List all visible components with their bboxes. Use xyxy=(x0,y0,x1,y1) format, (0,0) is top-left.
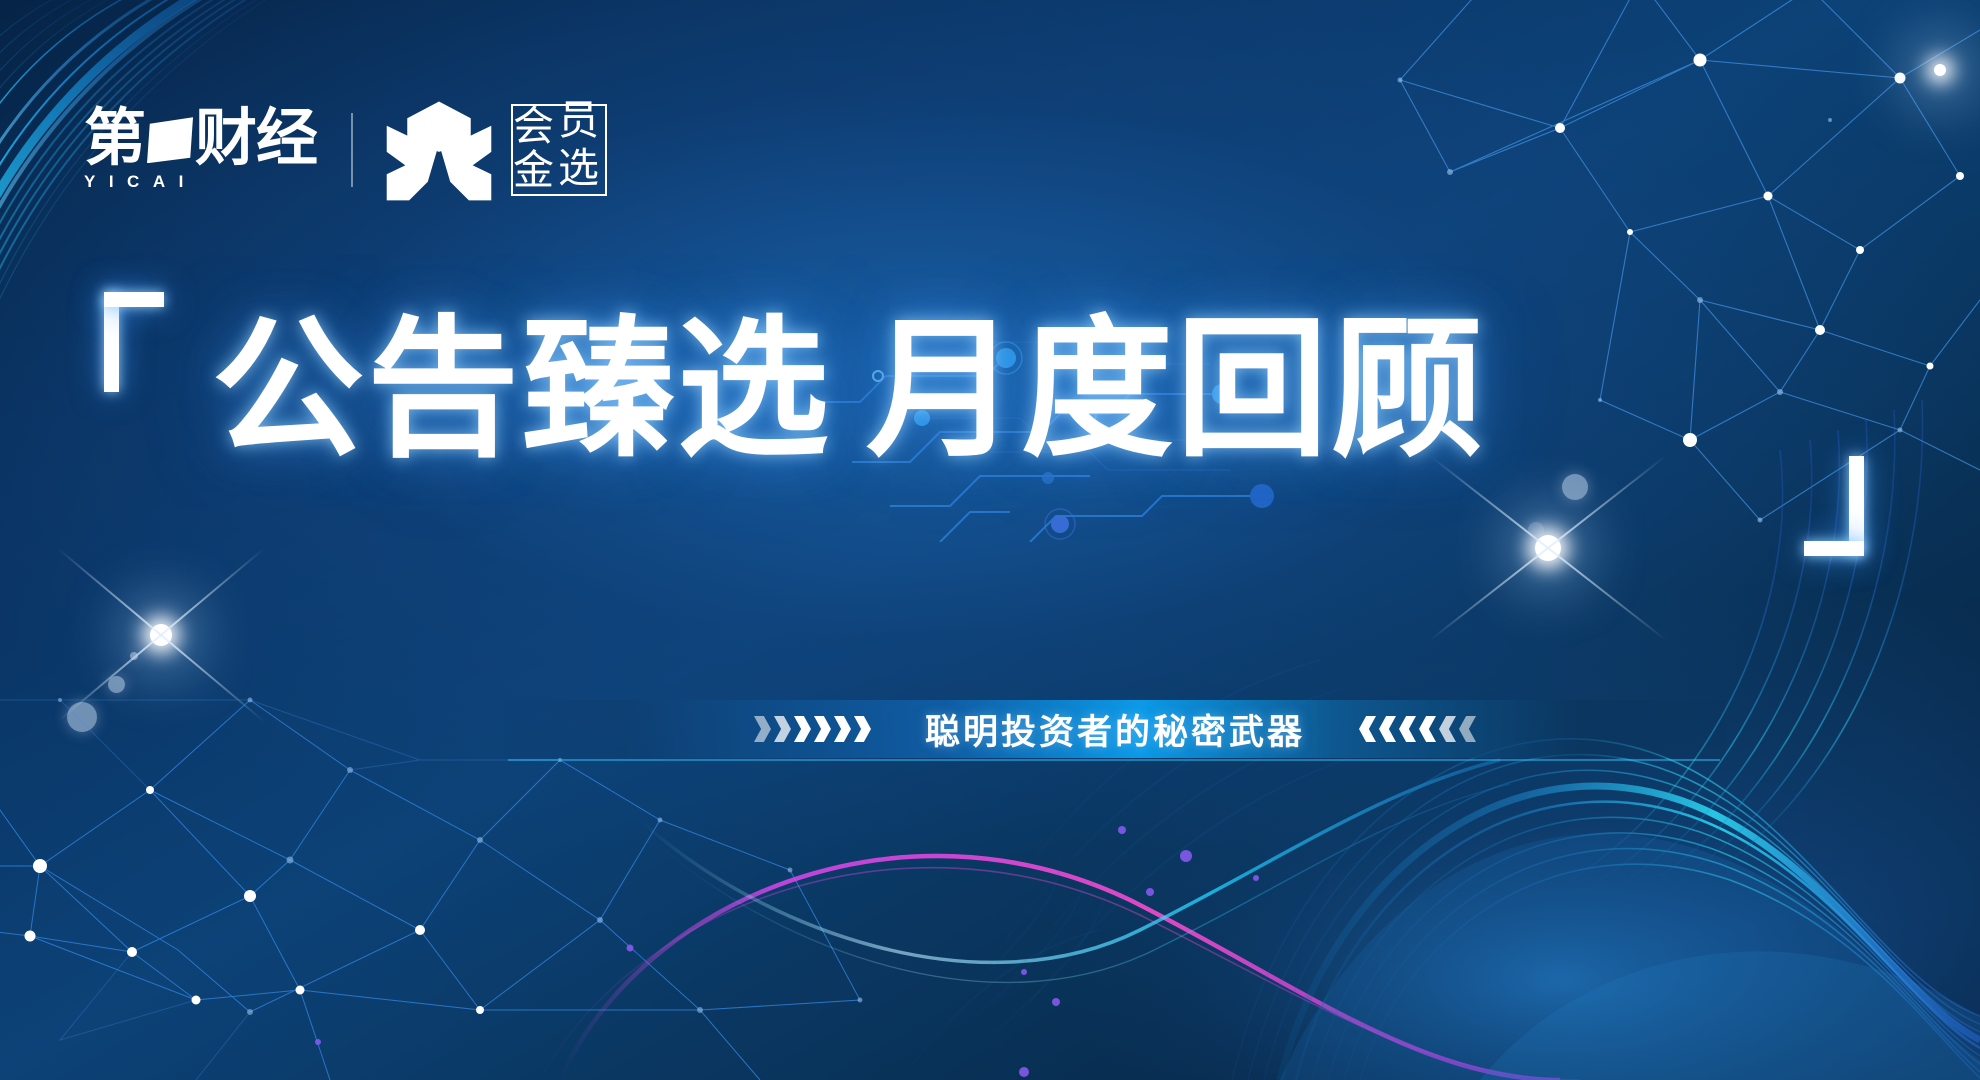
title-block: 公告臻选月度回顾 xyxy=(0,292,1980,542)
vip-glyph-yuan: 员 xyxy=(558,100,599,141)
lens-flare-top-far-right xyxy=(1880,10,1980,130)
vip-gold-selection-logo[interactable]: 会 员 金 选 xyxy=(511,104,607,196)
bracket-close xyxy=(1804,456,1864,556)
yicai-logo-latin: YICAI xyxy=(84,172,197,192)
page-title: 公告臻选月度回顾 xyxy=(212,314,1486,466)
yicai-logo-cn: 第 财 经 xyxy=(84,108,317,168)
vip-glyph-jin: 金 xyxy=(513,150,554,191)
title-segment-1: 公告臻选 xyxy=(212,301,832,478)
chevron-left-icon xyxy=(1359,716,1476,742)
vip-glyph-hui: 会 xyxy=(513,106,554,147)
lens-flare-left xyxy=(30,500,350,800)
yicai-glyph-cai: 财 xyxy=(195,108,256,168)
brand-header: 第 财 经 YICAI 会 员 xyxy=(84,104,607,196)
yicai-glyph-di: 第 xyxy=(84,108,145,168)
vip-glyph-xuan: 选 xyxy=(558,148,599,189)
yicai-square-mark xyxy=(147,117,193,163)
bracket-open xyxy=(104,292,164,392)
vertical-divider-icon xyxy=(351,113,353,187)
subtitle-banner: 聪明投资者的秘密武器 xyxy=(504,700,1726,758)
yicai-logo[interactable]: 第 财 经 YICAI xyxy=(84,108,317,193)
six-point-star-icon xyxy=(383,94,495,206)
title-segment-2: 月度回顾 xyxy=(866,301,1486,478)
yicai-glyph-jing: 经 xyxy=(256,108,317,168)
subtitle-text: 聪明投资者的秘密武器 xyxy=(925,704,1305,755)
chevron-right-icon xyxy=(754,716,871,742)
poster-canvas: 第 财 经 YICAI 会 员 xyxy=(0,0,1980,1080)
